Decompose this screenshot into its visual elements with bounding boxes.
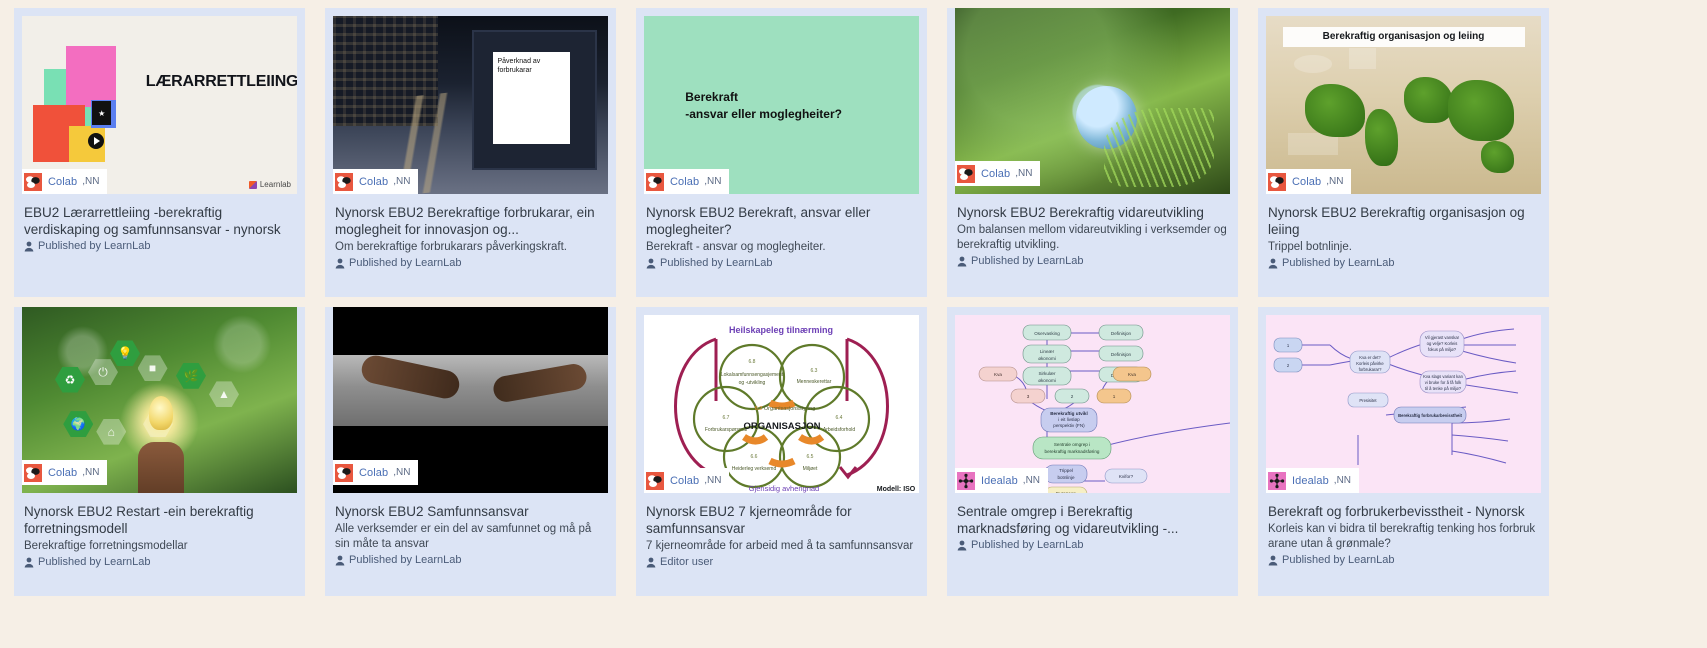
- thumbnail-iso-26000-diagram: Heilskapeleg tilnærming 6.8 Lokalsamfunn…: [644, 315, 919, 493]
- card-thumbnail[interactable]: Colab ,NN: [955, 8, 1230, 194]
- colab-icon: [335, 464, 353, 482]
- content-card[interactable]: Colab ,NN Nynorsk EBU2 Samfunnsansvar Al…: [325, 307, 616, 596]
- card-meta: Published by LearnLab: [335, 257, 606, 269]
- card-body: Nynorsk EBU2 7 kjerneområde for samfunns…: [636, 493, 927, 596]
- card-meta: Published by LearnLab: [24, 556, 295, 568]
- user-icon: [646, 557, 656, 568]
- svg-text:økonomi: økonomi: [1038, 378, 1056, 383]
- svg-text:Berekraftig forbrukarbevissthe: Berekraftig forbrukarbevisstheit: [1398, 413, 1462, 418]
- svg-text:Menneskerettar: Menneskerettar: [797, 379, 832, 385]
- thumbnail-mint-slide: Berekraft -ansvar eller moglegheiter?: [644, 16, 919, 194]
- card-description: Trippel botnlinje.: [1268, 240, 1539, 255]
- badge-source-name: Colab: [359, 467, 388, 479]
- svg-text:6.2 Organisasjonsstyring: 6.2 Organisasjonsstyring: [755, 406, 816, 412]
- source-badge[interactable]: Colab ,NN: [333, 169, 418, 194]
- svg-text:til å tenke på miljø?: til å tenke på miljø?: [1425, 386, 1462, 391]
- card-thumbnail[interactable]: 1 2 Kva er det?Korleis påvirkeforbrukara…: [1266, 315, 1541, 493]
- svg-text:Definisjon: Definisjon: [1111, 352, 1132, 357]
- svg-text:Gjensidig avhengnad: Gjensidig avhengnad: [749, 484, 819, 493]
- card-thumbnail[interactable]: ♻ ⏻ 🌍 ⌂ 💡 ■ 🌿 ▲ ⚭ Colab ,NN: [22, 307, 297, 493]
- colab-icon: [1268, 173, 1286, 191]
- thumbnail-wooden-world-map: Berekraftig organisasjon og leiing: [1266, 16, 1541, 194]
- card-meta-label: Editor user: [660, 556, 713, 568]
- card-meta: Published by LearnLab: [646, 257, 917, 269]
- svg-text:Vil gjerast vanskar: Vil gjerast vanskar: [1425, 335, 1460, 340]
- badge-language: ,NN: [704, 475, 721, 486]
- svg-text:Definisjon: Definisjon: [1111, 331, 1132, 336]
- card-title: Nynorsk EBU2 Berekraftig vidareutvikling: [957, 204, 1228, 221]
- badge-source-name: Colab: [48, 467, 77, 479]
- card-meta: Published by LearnLab: [957, 255, 1228, 267]
- svg-text:Kva: Kva: [1128, 372, 1136, 377]
- source-badge[interactable]: Colab ,NN: [22, 460, 107, 485]
- card-body: Nynorsk EBU2 Berekraftige forbrukarar, e…: [325, 194, 616, 297]
- svg-text:Trippel: Trippel: [1059, 468, 1073, 473]
- card-meta-label: Published by LearnLab: [38, 556, 151, 568]
- card-body: Nynorsk EBU2 Restart -ein berekraftig fo…: [14, 493, 305, 596]
- svg-text:6.4: 6.4: [836, 415, 843, 421]
- card-description: Alle verksemder er ein del av samfunnet …: [335, 522, 606, 552]
- svg-text:Sirkulær: Sirkulær: [1038, 371, 1056, 376]
- leaf-icon: 🌿: [176, 363, 206, 389]
- card-meta-label: Published by LearnLab: [971, 255, 1084, 267]
- card-meta-label: Published by LearnLab: [1282, 257, 1395, 269]
- thumbnail-poster-text: Påverknad av forbrukarar: [493, 52, 570, 145]
- svg-text:Sentrale omgrep i: Sentrale omgrep i: [1054, 442, 1090, 447]
- card-meta-label: Published by LearnLab: [349, 257, 462, 269]
- badge-language: ,NN: [1334, 475, 1351, 486]
- badge-source-name: Colab: [670, 475, 699, 487]
- learnlab-mark-icon: [249, 181, 257, 189]
- svg-text:Korleis påvirke: Korleis påvirke: [1356, 361, 1384, 366]
- svg-text:perspektiv (FN): perspektiv (FN): [1053, 423, 1085, 428]
- card-body: Nynorsk EBU2 Berekraft, ansvar eller mog…: [636, 194, 927, 297]
- svg-text:6.7: 6.7: [723, 415, 730, 421]
- poster-line-1: Påverknad av: [498, 57, 565, 66]
- badge-source-name: Colab: [1292, 176, 1321, 188]
- card-description: Om berekraftige forbrukarars påverkingsk…: [335, 240, 606, 255]
- card-title: Nynorsk EBU2 Samfunnsansvar: [335, 503, 606, 520]
- svg-text:Lokalsamfunnsengasjement: Lokalsamfunnsengasjement: [721, 372, 784, 378]
- card-body: Nynorsk EBU2 Berekraftig organisasjon og…: [1258, 194, 1549, 297]
- svg-text:i eit livsløp: i eit livsløp: [1058, 417, 1080, 422]
- thumbnail-pink-mindmap: Oservasking Definisjon Lineærøkonomi Def…: [955, 315, 1230, 493]
- lightbulb-icon: 💡: [110, 340, 140, 366]
- idealab-icon: [957, 472, 975, 490]
- svg-text:6.8: 6.8: [749, 359, 756, 365]
- svg-text:Kvifor?: Kvifor?: [1119, 474, 1134, 479]
- source-badge[interactable]: Colab ,NN: [333, 460, 418, 485]
- svg-text:European: European: [1056, 491, 1076, 493]
- learnlab-wordmark: Learnlab: [260, 180, 291, 189]
- card-title: EBU2 Lærarrettleiing -berekraftig verdis…: [24, 204, 295, 238]
- card-description: Korleis kan vi bidra til berekraftig ten…: [1268, 522, 1539, 552]
- card-meta-label: Published by LearnLab: [38, 240, 151, 252]
- source-badge[interactable]: Idealab ,NN: [955, 468, 1048, 493]
- thumbnail-night-street: Påverknad av forbrukarar: [333, 16, 608, 194]
- card-meta-label: Published by LearnLab: [1282, 554, 1395, 566]
- content-card-grid: ★ LÆRARRETTLEIING Learnlab Colab ,NN EBU…: [0, 0, 1707, 596]
- card-meta: Published by LearnLab: [1268, 257, 1539, 269]
- card-title: Nynorsk EBU2 7 kjerneområde for samfunns…: [646, 503, 917, 537]
- svg-text:3: 3: [1027, 394, 1030, 399]
- thumbnail-banner-text: Berekraftig organisasjon og leiing: [1283, 27, 1525, 47]
- card-description: Berekraftige forretningsmodellar: [24, 539, 295, 554]
- card-body: Nynorsk EBU2 Samfunnsansvar Alle verksem…: [325, 493, 616, 596]
- svg-text:Oservasking: Oservasking: [1034, 331, 1060, 336]
- learnlab-logo: Learnlab: [249, 180, 291, 189]
- card-body: Sentrale omgrep i Berekraftig marknadsfø…: [947, 493, 1238, 596]
- svg-text:Kva er det?: Kva er det?: [1359, 355, 1381, 360]
- svg-text:vi bruke for å få folk: vi bruke for å få folk: [1425, 380, 1462, 385]
- card-thumbnail[interactable]: Berekraftig organisasjon og leiing Colab…: [1266, 16, 1541, 194]
- svg-text:botnlinje: botnlinje: [1057, 475, 1075, 480]
- badge-language: ,NN: [82, 176, 99, 187]
- badge-language: ,NN: [393, 467, 410, 478]
- card-meta-label: Published by LearnLab: [971, 539, 1084, 551]
- content-card[interactable]: ★ LÆRARRETTLEIING Learnlab Colab ,NN EBU…: [14, 8, 305, 297]
- card-meta: Published by LearnLab: [957, 539, 1228, 551]
- card-thumbnail[interactable]: Heilskapeleg tilnærming 6.8 Lokalsamfunn…: [644, 315, 919, 493]
- plug-icon: ⏻: [88, 359, 118, 385]
- battery-icon: ■: [138, 355, 168, 381]
- svg-text:og velje? Korleis: og velje? Korleis: [1427, 341, 1458, 346]
- user-icon: [335, 555, 345, 566]
- card-body: EBU2 Lærarrettleiing -berekraftig verdis…: [14, 194, 305, 297]
- badge-language: ,NN: [1326, 176, 1343, 187]
- colab-icon: [646, 173, 664, 191]
- content-card[interactable]: Heilskapeleg tilnærming 6.8 Lokalsamfunn…: [636, 307, 927, 596]
- svg-text:Arbeidsforhold: Arbeidsforhold: [823, 427, 855, 433]
- thumbnail-pink-mindmap-wide: 1 2 Kva er det?Korleis påvirkeforbrukara…: [1266, 315, 1541, 493]
- card-meta: Published by LearnLab: [335, 554, 606, 566]
- card-body: Nynorsk EBU2 Berekraftig vidareutvikling…: [947, 194, 1238, 297]
- svg-text:Lineær: Lineær: [1040, 349, 1055, 354]
- badge-language: ,NN: [393, 176, 410, 187]
- svg-text:berekraftig marknadsføring: berekraftig marknadsføring: [1045, 449, 1100, 454]
- thumbnail-headline: LÆRARRETTLEIING: [146, 73, 297, 91]
- svg-text:2: 2: [1071, 394, 1074, 399]
- badge-source-name: Idealab: [1292, 475, 1329, 487]
- badge-source-name: Colab: [981, 168, 1010, 180]
- svg-text:Kva slags variant kan: Kva slags variant kan: [1423, 374, 1463, 379]
- badge-source-name: Colab: [48, 176, 77, 188]
- card-thumbnail[interactable]: Oservasking Definisjon Lineærøkonomi Def…: [955, 315, 1230, 493]
- svg-text:Miljøet: Miljøet: [803, 466, 818, 472]
- content-card[interactable]: Colab ,NN Nynorsk EBU2 Berekraftig vidar…: [947, 8, 1238, 297]
- user-icon: [24, 557, 34, 568]
- colab-icon: [24, 173, 42, 191]
- card-description: Berekraft - ansvar og moglegheiter.: [646, 240, 917, 255]
- svg-text:Kva: Kva: [994, 372, 1002, 377]
- card-title: Nynorsk EBU2 Restart -ein berekraftig fo…: [24, 503, 295, 537]
- home-icon: ⌂: [96, 419, 126, 445]
- svg-text:fokus på miljø?: fokus på miljø?: [1428, 347, 1457, 352]
- card-thumbnail[interactable]: Colab ,NN: [333, 307, 608, 493]
- slide-line-2: -ansvar eller moglegheiter?: [685, 107, 919, 121]
- card-title: Nynorsk EBU2 Berekraftige forbrukarar, e…: [335, 204, 606, 238]
- content-card[interactable]: Oservasking Definisjon Lineærøkonomi Def…: [947, 307, 1238, 596]
- svg-text:6.5: 6.5: [807, 454, 814, 460]
- user-icon: [646, 258, 656, 269]
- content-card[interactable]: ♻ ⏻ 🌍 ⌂ 💡 ■ 🌿 ▲ ⚭ Colab ,NN Nynor: [14, 307, 305, 596]
- card-meta-label: Published by LearnLab: [660, 257, 773, 269]
- card-description: Om balansen mellom vidareutvikling i ver…: [957, 223, 1228, 253]
- user-icon: [957, 256, 967, 267]
- svg-text:6.3: 6.3: [811, 368, 818, 374]
- colab-icon: [957, 165, 975, 183]
- source-badge[interactable]: Idealab ,NN: [1266, 468, 1359, 493]
- badge-source-name: Colab: [359, 176, 388, 188]
- colab-icon: [24, 464, 42, 482]
- svg-text:6.6: 6.6: [751, 454, 758, 460]
- colab-icon: [335, 173, 353, 191]
- svg-text:Berekraftig utvikl: Berekraftig utvikl: [1050, 411, 1088, 416]
- content-card[interactable]: Påverknad av forbrukarar Colab ,NN Nynor…: [325, 8, 616, 297]
- card-title: Nynorsk EBU2 Berekraftig organisasjon og…: [1268, 204, 1539, 238]
- card-title: Sentrale omgrep i Berekraftig marknadsfø…: [957, 503, 1228, 537]
- content-card[interactable]: Berekraft -ansvar eller moglegheiter? Co…: [636, 8, 927, 297]
- svg-text:Heilskapeleg tilnærming: Heilskapeleg tilnærming: [729, 325, 833, 335]
- content-card[interactable]: 1 2 Kva er det?Korleis påvirkeforbrukara…: [1258, 307, 1549, 596]
- badge-language: ,NN: [1015, 168, 1032, 179]
- svg-text:Forbrukarspørsmål: Forbrukarspørsmål: [705, 426, 747, 433]
- source-badge[interactable]: Colab ,NN: [644, 169, 729, 194]
- user-icon: [335, 258, 345, 269]
- source-badge[interactable]: Colab ,NN: [22, 169, 107, 194]
- card-meta: Editor user: [646, 556, 917, 568]
- badge-language: ,NN: [82, 467, 99, 478]
- svg-text:og -utvikling: og -utvikling: [739, 380, 766, 386]
- thumbnail-learnlab-illustration: ★ LÆRARRETTLEIING Learnlab: [22, 16, 297, 194]
- svg-text:Modell: ISO: Modell: ISO: [877, 486, 916, 493]
- svg-text:økonomi: økonomi: [1038, 356, 1056, 361]
- svg-text:Heiderleg verksemd: Heiderleg verksemd: [732, 466, 777, 472]
- card-thumbnail[interactable]: Påverknad av forbrukarar Colab ,NN: [333, 16, 608, 194]
- card-thumbnail[interactable]: ★ LÆRARRETTLEIING Learnlab Colab ,NN: [22, 16, 297, 194]
- svg-text:1: 1: [1113, 394, 1116, 399]
- badge-language: ,NN: [704, 176, 721, 187]
- poster-line-2: forbrukarar: [498, 66, 565, 75]
- svg-text:Presisitet: Presisitet: [1359, 398, 1377, 403]
- user-icon: [24, 241, 34, 252]
- source-badge[interactable]: Colab ,NN: [955, 161, 1040, 186]
- source-badge[interactable]: Colab ,NN: [1266, 169, 1351, 194]
- star-icon: ★: [92, 101, 111, 124]
- recycle-icon: ♻: [55, 367, 85, 393]
- card-thumbnail[interactable]: Berekraft -ansvar eller moglegheiter? Co…: [644, 16, 919, 194]
- source-badge[interactable]: Colab ,NN: [644, 468, 729, 493]
- badge-source-name: Colab: [670, 176, 699, 188]
- user-icon: [957, 540, 967, 551]
- card-body: Berekraft og forbrukerbevisstheit - Nyno…: [1258, 493, 1549, 596]
- card-title: Berekraft og forbrukerbevisstheit - Nyno…: [1268, 503, 1539, 520]
- card-description: 7 kjerneområde for arbeid med å ta samfu…: [646, 539, 917, 554]
- user-icon: [1268, 258, 1278, 269]
- svg-text:forbrukarar?: forbrukarar?: [1359, 367, 1382, 372]
- globe-icon: 🌍: [63, 411, 93, 437]
- content-card[interactable]: Berekraftig organisasjon og leiing Colab…: [1258, 8, 1549, 297]
- user-icon: [1268, 555, 1278, 566]
- svg-text:ORGANISASJON: ORGANISASJON: [743, 421, 820, 432]
- badge-source-name: Idealab: [981, 475, 1018, 487]
- card-meta: Published by LearnLab: [1268, 554, 1539, 566]
- card-meta: Published by LearnLab: [24, 240, 295, 252]
- colab-icon: [646, 472, 664, 490]
- card-meta-label: Published by LearnLab: [349, 554, 462, 566]
- idealab-icon: [1268, 472, 1286, 490]
- badge-language: ,NN: [1023, 475, 1040, 486]
- tree-icon: ▲: [209, 381, 239, 407]
- slide-line-1: Berekraft: [685, 90, 919, 104]
- card-title: Nynorsk EBU2 Berekraft, ansvar eller mog…: [646, 204, 917, 238]
